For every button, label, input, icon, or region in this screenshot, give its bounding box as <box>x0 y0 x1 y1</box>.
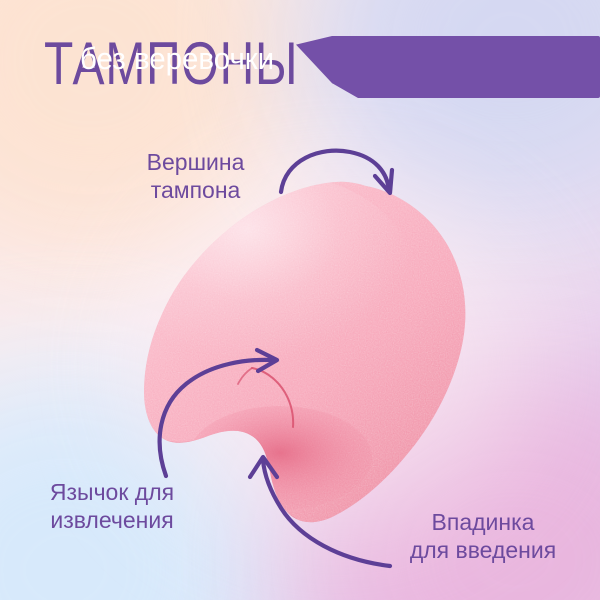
tagline-banner <box>296 36 600 98</box>
callout-tampon-tip-line2: тампона <box>113 176 278 204</box>
callout-extraction-tab: Язычок для извлечения <box>22 478 202 534</box>
callout-insertion-dimple: Впадинка для введения <box>388 508 578 564</box>
callout-insertion-dimple-line1: Впадинка <box>388 508 578 536</box>
callout-tampon-tip-line1: Вершина <box>113 148 278 176</box>
poster-canvas: ТАМПОНЫ без веревочки <box>0 0 600 600</box>
callout-tampon-tip: Вершина тампона <box>113 148 278 204</box>
header: ТАМПОНЫ без веревочки <box>0 28 600 100</box>
callout-extraction-tab-line1: Язычок для <box>22 478 202 506</box>
tagline-label: без веревочки <box>80 28 274 90</box>
callout-extraction-tab-line2: извлечения <box>22 506 202 534</box>
callout-insertion-dimple-line2: для введения <box>388 536 578 564</box>
